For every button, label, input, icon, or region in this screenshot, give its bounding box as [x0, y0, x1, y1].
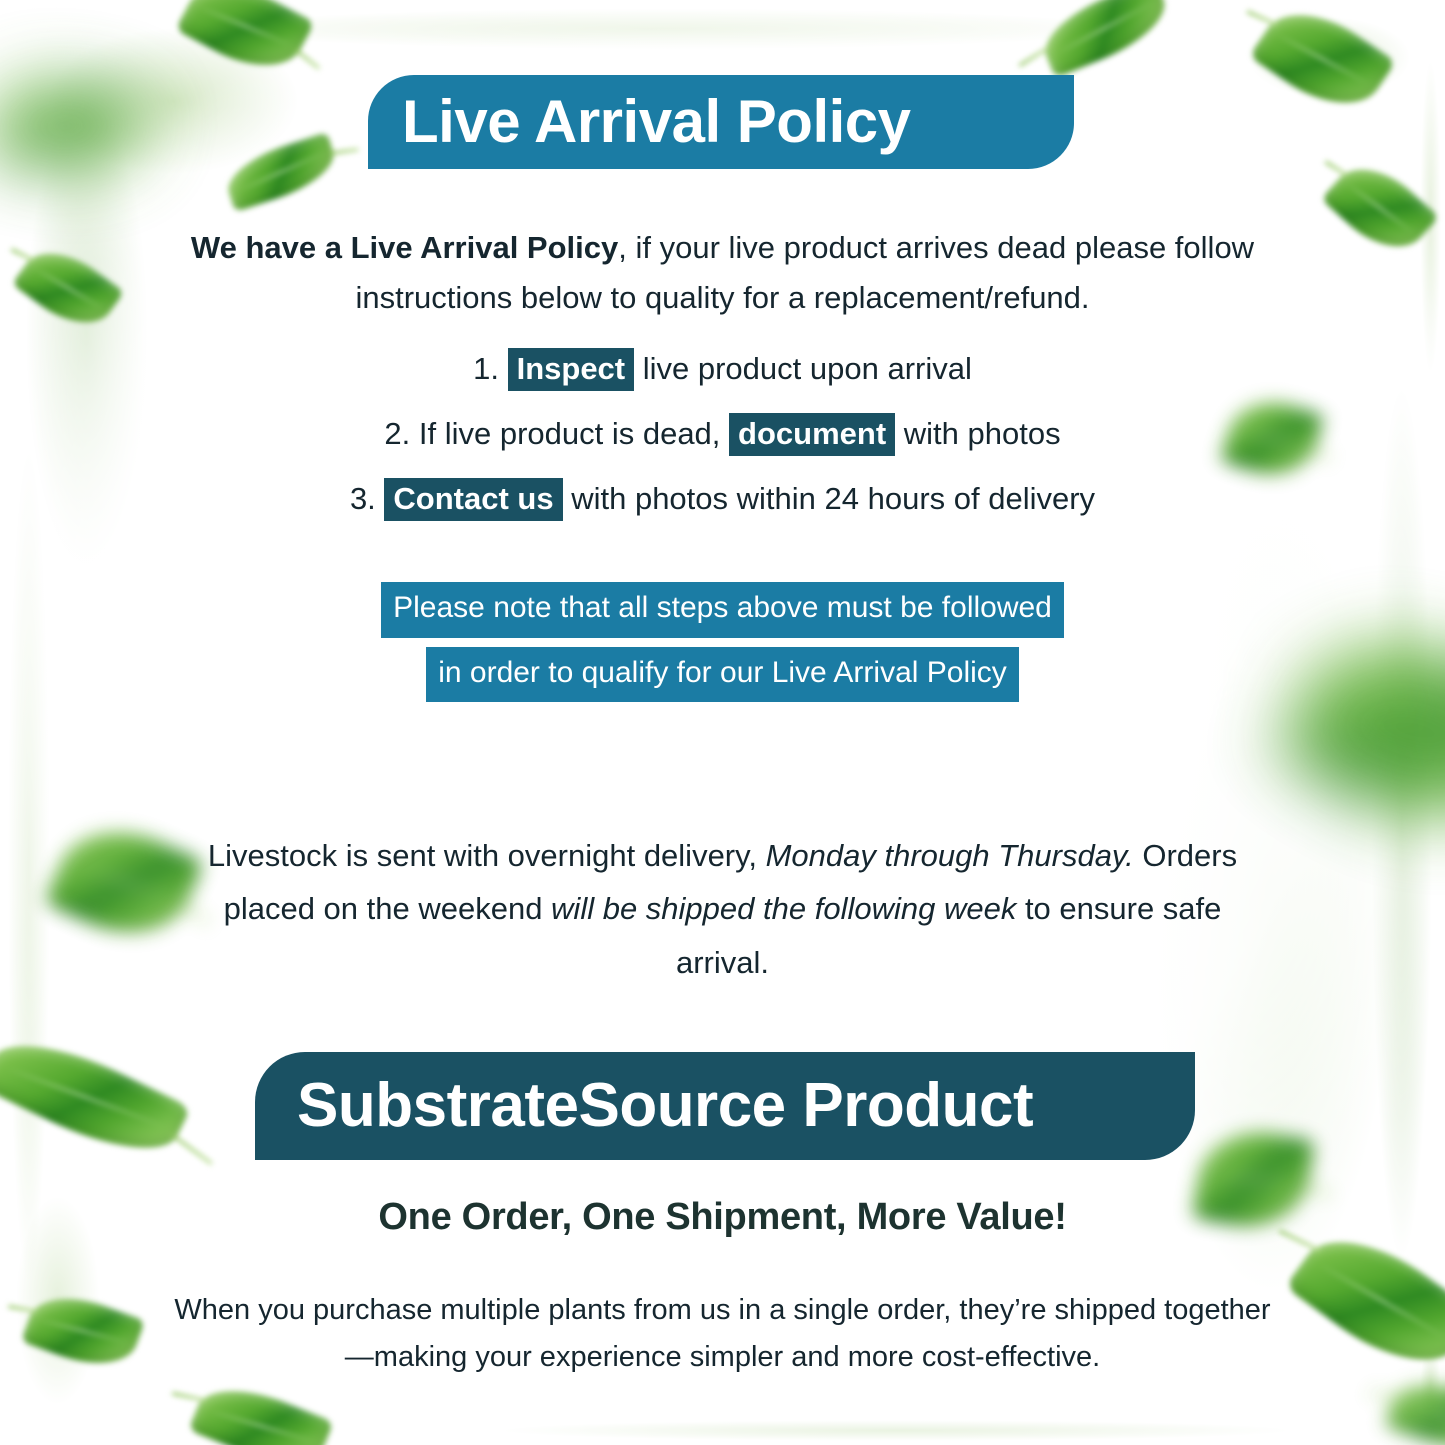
shipping-italic-days: Monday through Thursday. — [766, 838, 1134, 873]
step-text-after: live product upon arrival — [634, 351, 972, 386]
live-arrival-policy-infographic: Live Arrival Policy We have a Live Arriv… — [0, 0, 1445, 1445]
leaf-left-edge-icon — [12, 236, 125, 341]
intro-lead-text: We have a Live Arrival Policy — [191, 230, 618, 265]
policy-note-highlight: Please note that all steps above must be… — [381, 582, 1064, 638]
instruction-step-3: 3. Contact us with photos within 24 hour… — [170, 480, 1275, 519]
leaf-top-right-a-icon — [1034, 0, 1176, 78]
leaf-left-bottom-icon — [21, 1283, 146, 1379]
leaf-left-lower-icon — [0, 1020, 191, 1174]
leaf-top-right-b-icon — [1249, 0, 1396, 126]
step-highlight-keyword: Contact us — [384, 478, 562, 521]
policy-note-line-2: in order to qualify for our Live Arrival… — [170, 647, 1275, 712]
instruction-steps-list: 1. Inspect live product upon arrival2. I… — [170, 350, 1275, 544]
instruction-step-1: 1. Inspect live product upon arrival — [170, 350, 1275, 389]
leaf-top-left-blur-icon — [0, 65, 148, 186]
intro-paragraph: We have a Live Arrival Policy, if your l… — [150, 223, 1295, 323]
leaf-bottom-far-right-icon — [1383, 1369, 1445, 1445]
policy-note-line-1: Please note that all steps above must be… — [170, 582, 1275, 647]
shipping-italic-weekend: will be shipped the following week — [551, 891, 1016, 926]
leaf-right-big-blur-icon — [1270, 595, 1445, 866]
step-text-before: If live product is dead, — [419, 416, 729, 451]
leaf-left-mid-blur-icon — [43, 808, 206, 957]
live-arrival-policy-banner: Live Arrival Policy — [368, 75, 1074, 169]
substrate-source-product-title: SubstrateSource Product — [297, 1075, 1033, 1137]
step-text-after: with photos within 24 hours of delivery — [563, 481, 1095, 516]
step-number: 1. — [473, 351, 507, 386]
leaf-bottom-right-icon — [1285, 1212, 1445, 1389]
live-arrival-policy-title: Live Arrival Policy — [402, 92, 911, 152]
substrate-source-product-banner: SubstrateSource Product — [255, 1052, 1195, 1160]
step-highlight-keyword: Inspect — [508, 348, 635, 391]
shipping-text-part1: Livestock is sent with overnight deliver… — [208, 838, 766, 873]
value-proposition-paragraph: When you purchase multiple plants from u… — [170, 1287, 1275, 1381]
instruction-step-2: 2. If live product is dead, document wit… — [170, 415, 1275, 454]
policy-note-highlight: in order to qualify for our Live Arrival… — [426, 647, 1019, 703]
step-text-after: with photos — [895, 416, 1060, 451]
step-highlight-keyword: document — [729, 413, 895, 456]
shipping-schedule-paragraph: Livestock is sent with overnight deliver… — [200, 829, 1245, 989]
value-proposition-subheading: One Order, One Shipment, More Value! — [170, 1196, 1275, 1239]
leaf-top-center-icon — [175, 0, 315, 86]
step-number: 3. — [350, 481, 384, 516]
leaf-upper-mid-icon — [220, 132, 341, 212]
step-number: 2. — [384, 416, 418, 451]
leaf-bottom-center-icon — [188, 1373, 334, 1445]
leaf-right-upper-icon — [1321, 150, 1439, 266]
policy-note-block: Please note that all steps above must be… — [170, 582, 1275, 711]
